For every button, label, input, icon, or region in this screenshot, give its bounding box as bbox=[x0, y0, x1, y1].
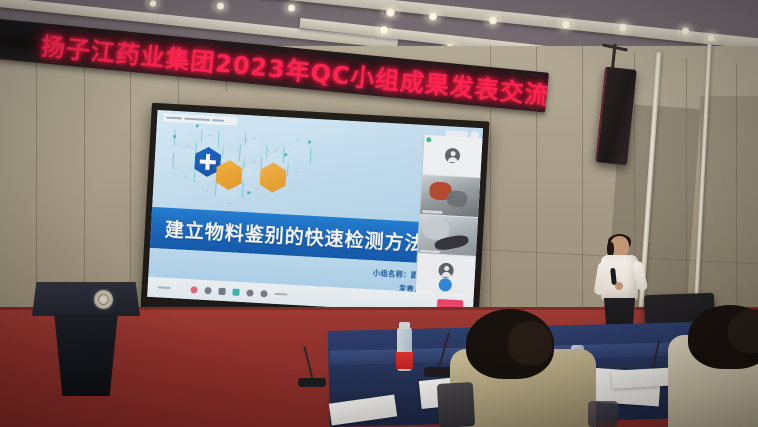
microphone-icon[interactable] bbox=[190, 286, 197, 293]
presenter-hand bbox=[615, 282, 623, 290]
ceiling-downlight bbox=[617, 23, 629, 32]
chat-icon[interactable] bbox=[246, 289, 253, 296]
water-bottle-cap bbox=[399, 322, 410, 329]
ceiling-downlight bbox=[680, 27, 691, 35]
avatar bbox=[445, 148, 461, 164]
ceiling-downlight bbox=[487, 16, 499, 25]
water-bottle-label bbox=[396, 352, 413, 369]
ceiling-downlight bbox=[286, 4, 297, 12]
chair-back bbox=[588, 401, 618, 427]
participant-tile[interactable] bbox=[416, 254, 476, 297]
ceiling-downlight bbox=[378, 26, 390, 34]
ceiling-downlight bbox=[384, 8, 397, 17]
participant-tile[interactable] bbox=[422, 135, 482, 178]
participant-video-strip[interactable] bbox=[415, 135, 483, 293]
ceiling-downlight bbox=[215, 2, 226, 10]
meeting-timer-label bbox=[158, 286, 171, 289]
attendee-hair bbox=[508, 321, 552, 365]
avatar bbox=[438, 262, 454, 278]
more-icon[interactable] bbox=[260, 290, 267, 297]
podium-emblem bbox=[94, 290, 113, 309]
camera-icon[interactable] bbox=[204, 286, 211, 293]
chair-back bbox=[437, 382, 475, 427]
ceiling-downlight bbox=[706, 34, 716, 42]
ceiling-downlight bbox=[427, 12, 439, 21]
podium-body bbox=[49, 314, 123, 396]
participant-tile[interactable] bbox=[420, 175, 480, 218]
toolbar-label bbox=[274, 293, 287, 296]
projection-screen-frame: 建立物料鉴别的快速检测方法 小组名称：圆融QC小组 发表人：赵晓隆 bbox=[141, 103, 490, 327]
participant-tile[interactable] bbox=[418, 214, 478, 257]
ceiling-downlight bbox=[148, 0, 158, 7]
conference-hall-photo: 扬子江药业集团2023年QC小组成果发表交流会 bbox=[0, 0, 758, 427]
join-audio-button[interactable] bbox=[438, 278, 452, 292]
presenter-hair bbox=[607, 242, 614, 256]
speaker-podium bbox=[32, 282, 140, 394]
projection-screen[interactable]: 建立物料鉴别的快速检测方法 小组名称：圆融QC小组 发表人：赵晓隆 bbox=[147, 110, 483, 315]
podium-top bbox=[32, 282, 140, 316]
share-screen-icon[interactable] bbox=[218, 287, 225, 294]
seated-attendee-right bbox=[668, 309, 758, 427]
microphone-base bbox=[298, 378, 326, 387]
participants-icon[interactable] bbox=[232, 288, 239, 295]
presenter-shirt bbox=[601, 255, 638, 300]
ceiling-downlight bbox=[560, 20, 572, 29]
mic-active-icon bbox=[426, 137, 431, 142]
